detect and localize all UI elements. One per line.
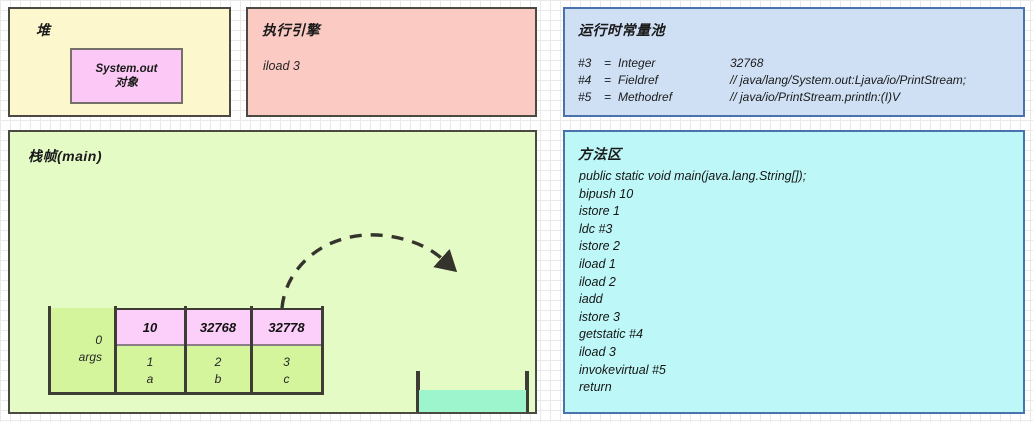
local-variable-divider [250, 306, 253, 395]
heap-panel: 堆 System.out 对象 [8, 7, 231, 117]
local-variable-table: 0args101a327682b327783c [49, 306, 322, 395]
local-variable-slot: 327783c [251, 306, 322, 395]
bytecode-line: invokevirtual #5 [579, 362, 806, 380]
bytecode-line: iadd [579, 291, 806, 309]
method-area-bytecode: public static void main(java.lang.String… [579, 168, 806, 397]
local-variable-value-cell: 32768 [185, 308, 251, 346]
current-instruction: iload 3 [263, 59, 300, 73]
local-variable-label-cell: 0args [49, 308, 115, 395]
local-variable-label-cell: 3c [251, 346, 322, 395]
operand-stack-empty-space [419, 390, 526, 414]
constant-pool-row: #5=Methodref// java/io/PrintStream.print… [578, 89, 966, 106]
heap-object-box: System.out 对象 [70, 48, 183, 104]
bytecode-line: istore 1 [579, 203, 806, 221]
local-variable-table-base [49, 392, 322, 395]
local-variable-name: args [79, 349, 102, 365]
diagram-canvas: 堆 System.out 对象 执行引擎 iload 3 运行时常量池 #3=I… [0, 0, 1033, 422]
constant-pool-type: Integer [618, 55, 730, 72]
constant-pool-value: // java/lang/System.out:Ljava/io/PrintSt… [730, 72, 966, 89]
bytecode-line: iload 3 [579, 344, 806, 362]
stack-frame-panel: 栈帧(main) 0args101a327682b327783c System.… [8, 130, 537, 414]
local-variable-index: 3 [283, 354, 290, 370]
bytecode-line: ldc #3 [579, 221, 806, 239]
local-variable-label-cell: 2b [185, 346, 251, 395]
runtime-constant-pool-title: 运行时常量池 [578, 20, 665, 40]
heap-object-line2: 对象 [115, 76, 138, 90]
constant-pool-row: #4=Fieldref// java/lang/System.out:Ljava… [578, 72, 966, 89]
local-variable-name: b [215, 371, 222, 387]
local-variable-divider [114, 306, 117, 395]
constant-pool-row: #3=Integer32768 [578, 55, 966, 72]
local-variable-index: 0 [95, 332, 102, 348]
constant-pool-value: // java/io/PrintStream.println:(I)V [730, 89, 900, 106]
bytecode-line: istore 3 [579, 309, 806, 327]
bytecode-line: getstatic #4 [579, 326, 806, 344]
execution-engine-panel: 执行引擎 iload 3 [246, 7, 537, 117]
local-variable-divider [48, 306, 51, 395]
local-variable-slot: 101a [115, 306, 185, 395]
local-variable-slot: 0args [49, 306, 115, 395]
bytecode-line: return [579, 379, 806, 397]
local-variable-value-cell: 32778 [251, 308, 322, 346]
constant-pool-equals: = [604, 55, 618, 72]
local-variable-name: a [147, 371, 154, 387]
heap-object-line1: System.out [96, 62, 158, 76]
local-variable-value-cell: 10 [115, 308, 185, 346]
local-variable-value: 32778 [268, 320, 304, 335]
local-variable-label-cell: 1a [115, 346, 185, 395]
constant-pool-value: 32768 [730, 55, 763, 72]
local-variable-name: c [284, 371, 290, 387]
constant-pool-equals: = [604, 89, 618, 106]
execution-engine-title: 执行引擎 [262, 20, 320, 40]
local-variable-divider [321, 306, 324, 395]
constant-pool-entries: #3=Integer32768#4=Fieldref// java/lang/S… [578, 55, 966, 106]
bytecode-line: iload 1 [579, 256, 806, 274]
local-variable-value: 10 [143, 320, 157, 335]
bytecode-line: iload 2 [579, 274, 806, 292]
method-area-panel: 方法区 public static void main(java.lang.St… [563, 130, 1025, 414]
local-variable-divider [184, 306, 187, 395]
bytecode-line: istore 2 [579, 238, 806, 256]
constant-pool-equals: = [604, 72, 618, 89]
runtime-constant-pool-panel: 运行时常量池 #3=Integer32768#4=Fieldref// java… [563, 7, 1025, 117]
constant-pool-index: #3 [578, 55, 604, 72]
method-area-title: 方法区 [578, 144, 622, 164]
stack-frame-title: 栈帧(main) [28, 146, 102, 166]
constant-pool-index: #5 [578, 89, 604, 106]
constant-pool-index: #4 [578, 72, 604, 89]
heap-title: 堆 [36, 20, 51, 40]
local-variable-index: 2 [215, 354, 222, 370]
operand-stack: System.out 引用 [416, 371, 529, 414]
local-variable-value: 32768 [200, 320, 236, 335]
constant-pool-type: Methodref [618, 89, 730, 106]
local-variable-index: 1 [147, 354, 154, 370]
bytecode-line: bipush 10 [579, 186, 806, 204]
constant-pool-type: Fieldref [618, 72, 730, 89]
local-variable-slot: 327682b [185, 306, 251, 395]
bytecode-line: public static void main(java.lang.String… [579, 168, 806, 186]
